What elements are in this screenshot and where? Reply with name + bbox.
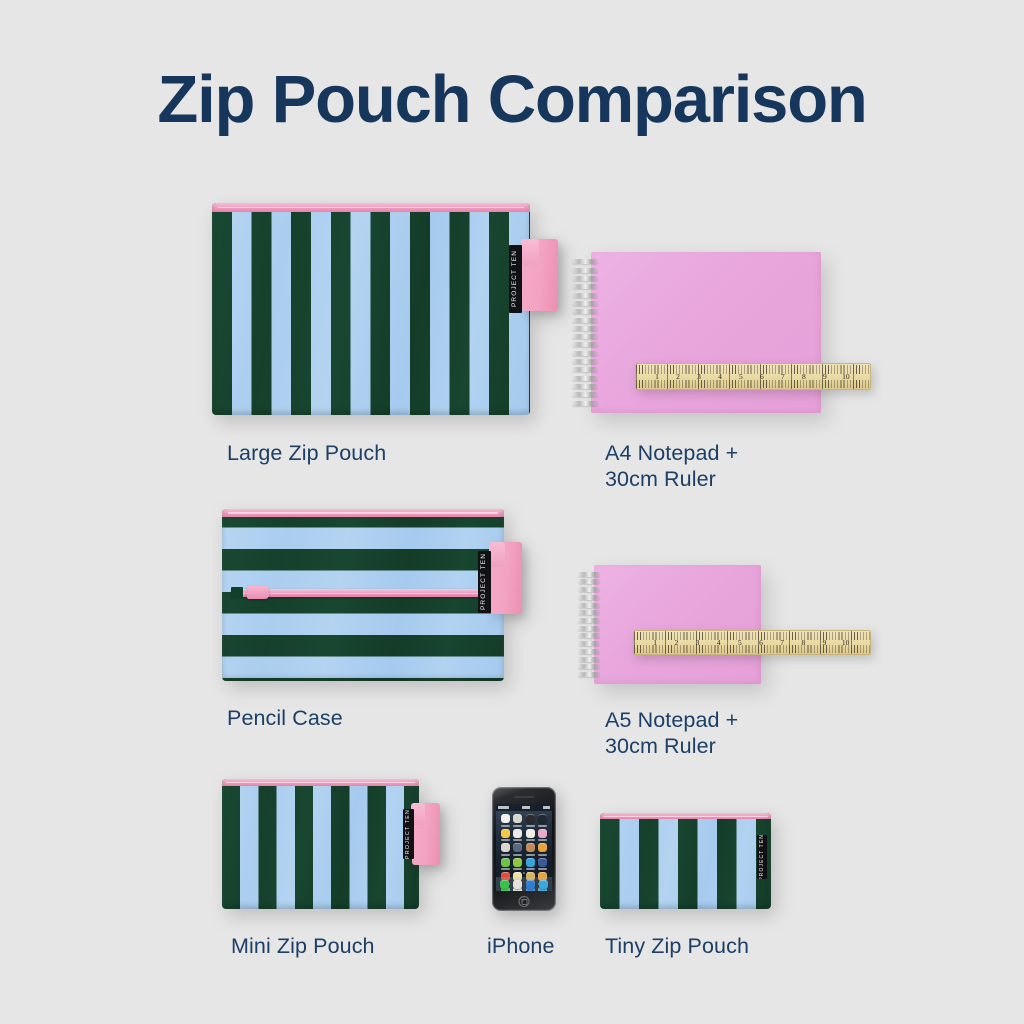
pouch-body	[600, 813, 771, 909]
phone-app-icon[interactable]	[526, 858, 535, 871]
pull-tab[interactable]	[412, 803, 440, 865]
phone-app-label	[526, 839, 535, 841]
caption-pencil-case: Pencil Case	[227, 705, 527, 731]
brand-label-tag: PROJECT TEN	[509, 245, 522, 313]
ruler-30cm[interactable]: 12345678910	[633, 630, 871, 655]
phone-home-button[interactable]	[519, 896, 530, 907]
phone-dock-icon[interactable]	[539, 880, 548, 889]
phone-dock-icon[interactable]	[526, 880, 535, 889]
ruler-number: 9	[823, 372, 827, 381]
caption-iphone: iPhone	[487, 933, 607, 959]
phone-camera-icon	[508, 796, 511, 799]
pouch-body	[212, 203, 530, 415]
a5-notepad-image[interactable]	[594, 565, 761, 684]
ruler-number: 2	[676, 372, 680, 381]
zipper-top[interactable]	[222, 509, 504, 517]
ruler-number: 1	[653, 638, 657, 647]
caption-tiny-zip-pouch: Tiny Zip Pouch	[605, 933, 825, 959]
ruler-number: 7	[780, 638, 784, 647]
zipper-slider[interactable]	[247, 586, 269, 599]
ruler-number: 8	[802, 372, 806, 381]
phone-app-icon[interactable]	[538, 843, 547, 856]
phone-app-label	[501, 868, 510, 870]
ruler-number: 1	[655, 372, 659, 381]
brand-label-text: PROJECT TEN	[406, 809, 412, 859]
caption-a4-notepad-ruler: A4 Notepad + 30cm Ruler	[605, 440, 865, 492]
iphone-image[interactable]	[492, 787, 556, 911]
phone-app-icon[interactable]	[513, 843, 522, 856]
ruler-number: 9	[823, 638, 827, 647]
ruler-number: 10	[842, 638, 850, 647]
phone-dock-icon[interactable]	[500, 880, 509, 889]
ruler-numbers: 12345678910	[634, 638, 870, 647]
zipper-top[interactable]	[600, 813, 771, 819]
phone-app-icon[interactable]	[501, 843, 510, 856]
pull-tab-fold	[489, 542, 505, 567]
large-zip-pouch-image[interactable]: PROJECT TEN	[212, 203, 530, 415]
comparison-canvas: Zip Pouch Comparison PROJECT TEN Large Z…	[0, 0, 1024, 1024]
phone-app-icon[interactable]	[538, 829, 547, 842]
ruler-numbers: 12345678910	[636, 372, 870, 382]
phone-app-label	[526, 868, 535, 870]
phone-app-label	[513, 825, 522, 827]
phone-app-label	[526, 825, 535, 827]
ruler-number: 2	[674, 638, 678, 647]
pull-tab[interactable]	[522, 239, 558, 311]
ruler-number: 5	[739, 372, 743, 381]
pull-tab-fold	[521, 239, 539, 266]
phone-dock-icon[interactable]	[513, 880, 522, 889]
brand-label-tag: PROJECT TEN	[757, 835, 767, 879]
phone-app-label	[501, 825, 510, 827]
phone-speaker	[514, 796, 534, 798]
phone-app-label	[501, 854, 510, 856]
phone-dock[interactable]	[496, 877, 552, 891]
caption-a5-notepad-ruler: A5 Notepad + 30cm Ruler	[605, 707, 865, 759]
mini-zip-pouch-image[interactable]: PROJECT TEN	[222, 779, 419, 909]
brand-label-tag: PROJECT TEN	[478, 551, 491, 613]
pouch-body	[222, 779, 419, 909]
phone-app-label	[513, 854, 522, 856]
ruler-number: 5	[738, 638, 742, 647]
phone-app-label	[513, 868, 522, 870]
phone-app-icon[interactable]	[538, 814, 547, 827]
phone-page-dots	[496, 872, 552, 874]
pencil-case-image[interactable]: PROJECT TEN	[222, 509, 504, 681]
phone-app-icon[interactable]	[501, 814, 510, 827]
zipper-top[interactable]	[222, 779, 419, 786]
ruler-number: 8	[801, 638, 805, 647]
phone-app-icon[interactable]	[501, 858, 510, 871]
phone-app-icon[interactable]	[526, 829, 535, 842]
ruler-number: 7	[781, 372, 785, 381]
pull-tab[interactable]	[490, 542, 522, 614]
phone-app-icon[interactable]	[526, 814, 535, 827]
phone-app-icon[interactable]	[526, 843, 535, 856]
phone-app-icon[interactable]	[501, 829, 510, 842]
caption-large-zip-pouch: Large Zip Pouch	[227, 440, 527, 466]
ruler-number: 4	[718, 372, 722, 381]
brand-label-tag: PROJECT TEN	[403, 809, 414, 859]
zipper-middle[interactable]	[231, 589, 495, 597]
phone-app-label	[513, 839, 522, 841]
notepad-spiral-binding	[578, 569, 600, 680]
phone-app-label	[538, 854, 547, 856]
ruler-number: 6	[759, 638, 763, 647]
caption-mini-zip-pouch: Mini Zip Pouch	[231, 933, 451, 959]
ruler-number: 3	[697, 372, 701, 381]
phone-app-icon[interactable]	[513, 829, 522, 842]
zipper-stop-left	[231, 587, 243, 599]
phone-app-label	[526, 854, 535, 856]
ruler-number: 6	[760, 372, 764, 381]
brand-label-text: PROJECT TEN	[760, 835, 765, 879]
stripe-pattern-vertical	[222, 779, 419, 909]
notepad-cover	[594, 565, 761, 684]
ruler-number: 3	[696, 638, 700, 647]
brand-label-text: PROJECT TEN	[512, 250, 519, 307]
ruler-number: 10	[842, 372, 850, 381]
phone-screen[interactable]	[496, 804, 552, 891]
page-title: Zip Pouch Comparison	[0, 66, 1024, 133]
stripe-pattern-vertical	[212, 203, 530, 415]
ruler-number: 4	[717, 638, 721, 647]
brand-label-text: PROJECT TEN	[481, 553, 488, 610]
stripe-pattern-vertical	[600, 813, 771, 909]
phone-app-icon[interactable]	[513, 858, 522, 871]
phone-app-label	[538, 868, 547, 870]
phone-status-bar	[496, 804, 552, 811]
phone-app-label	[501, 839, 510, 841]
phone-app-label	[538, 839, 547, 841]
zipper-top[interactable]	[212, 203, 530, 212]
tiny-zip-pouch-image[interactable]: PROJECT TEN	[600, 813, 771, 909]
phone-app-label	[538, 825, 547, 827]
notepad-spiral-binding	[572, 256, 598, 409]
ruler-30cm[interactable]: 12345678910	[635, 363, 871, 390]
phone-app-icon[interactable]	[538, 858, 547, 871]
home-square-icon	[521, 899, 527, 905]
phone-app-icon[interactable]	[513, 814, 522, 827]
